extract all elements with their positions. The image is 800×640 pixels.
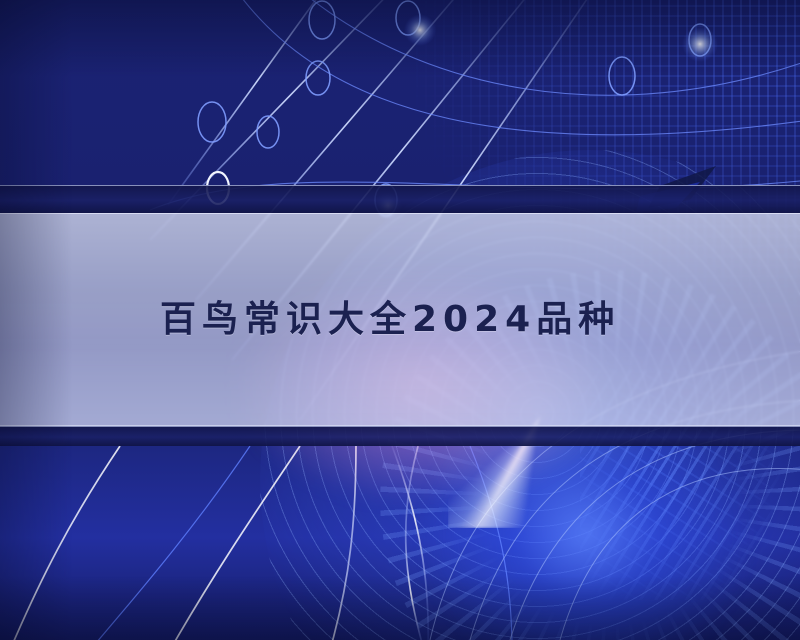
bottom-accent-bar bbox=[0, 426, 800, 446]
top-accent-bar bbox=[0, 185, 800, 213]
page-title: 百鸟常识大全2024品种 bbox=[160, 302, 620, 338]
title-slide: 百鸟常识大全2024品种 bbox=[0, 0, 800, 640]
caption-band: 百鸟常识大全2024品种 bbox=[0, 213, 800, 426]
